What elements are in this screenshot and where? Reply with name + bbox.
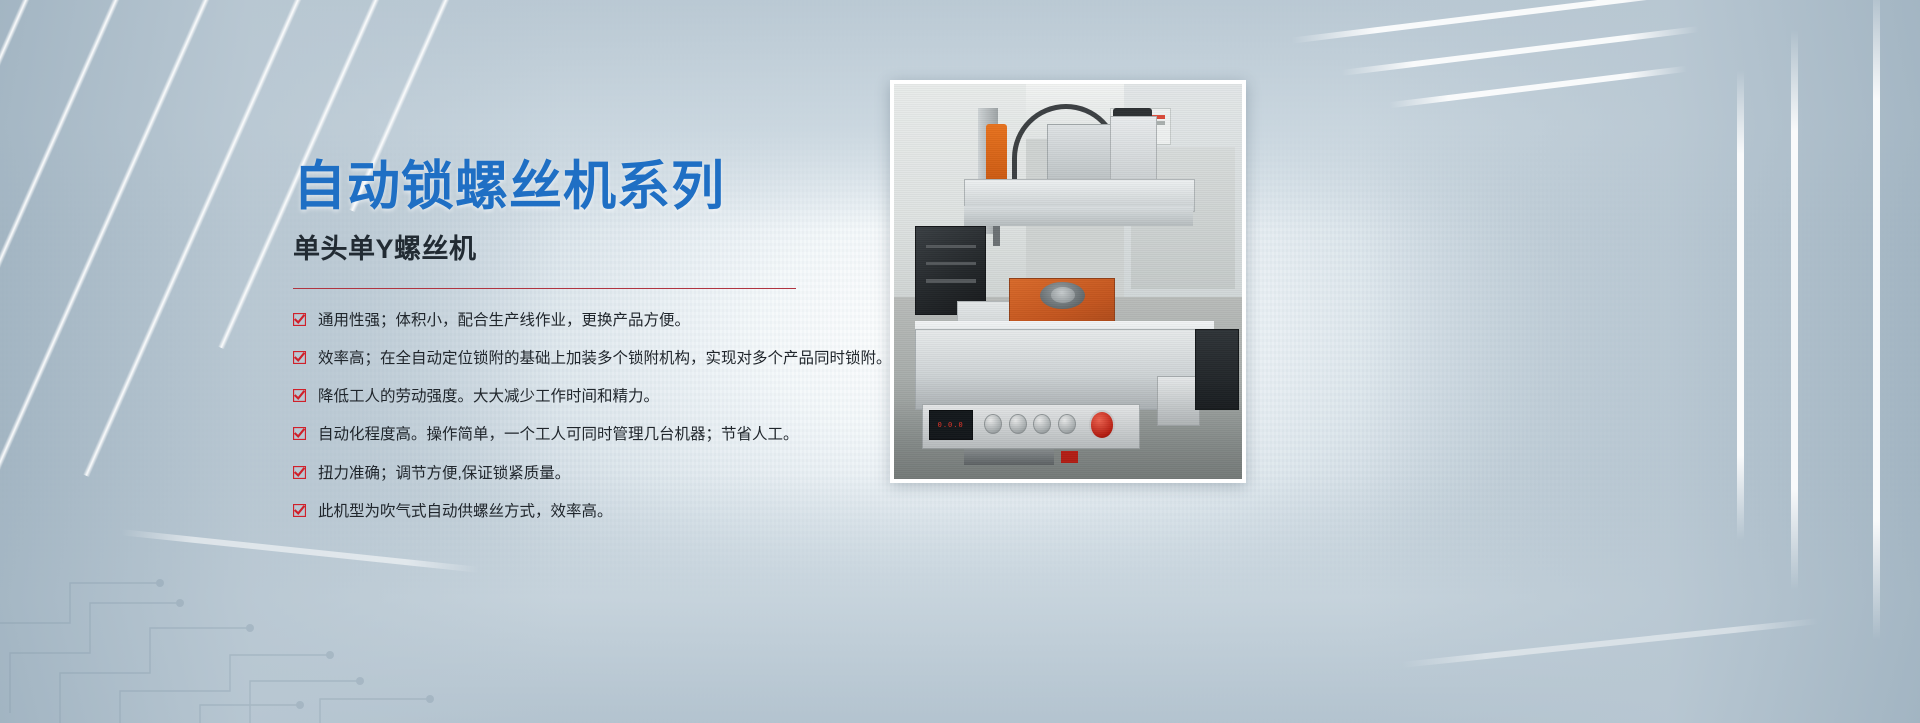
banner-content: 自动锁螺丝机系列 单头单Y螺丝机 通用性强；体积小，配合生产线作业，更换产品方便… bbox=[293, 160, 893, 540]
product-photo: 0.0.0 bbox=[894, 84, 1242, 479]
check-box-icon bbox=[293, 389, 306, 402]
check-box-icon bbox=[293, 313, 306, 326]
list-item: 自动化程度高。操作简单，一个工人可同时管理几台机器；节省人工。 bbox=[293, 425, 893, 445]
banner-stage: 自动锁螺丝机系列 单头单Y螺丝机 通用性强；体积小，配合生产线作业，更换产品方便… bbox=[0, 0, 1920, 723]
list-item: 效率高；在全自动定位锁附的基础上加装多个锁附机构，实现对多个产品同时锁附。 bbox=[293, 349, 893, 369]
list-item-label: 此机型为吹气式自动供螺丝方式，效率高。 bbox=[318, 502, 613, 522]
page-subtitle: 单头单Y螺丝机 bbox=[293, 227, 893, 266]
list-item-label: 通用性强；体积小，配合生产线作业，更换产品方便。 bbox=[318, 311, 690, 331]
list-item-label: 扭力准确；调节方便,保证锁紧质量。 bbox=[318, 464, 570, 484]
page-title: 自动锁螺丝机系列 bbox=[293, 160, 893, 213]
list-item-label: 效率高；在全自动定位锁附的基础上加装多个锁附机构，实现对多个产品同时锁附。 bbox=[318, 349, 892, 369]
check-box-icon bbox=[293, 427, 306, 440]
list-item-label: 降低工人的劳动强度。大大减少工作时间和精力。 bbox=[318, 387, 659, 407]
list-item: 降低工人的劳动强度。大大减少工作时间和精力。 bbox=[293, 387, 893, 407]
check-box-icon bbox=[293, 504, 306, 517]
list-item: 此机型为吹气式自动供螺丝方式，效率高。 bbox=[293, 502, 893, 522]
list-item-label: 自动化程度高。操作简单，一个工人可同时管理几台机器；节省人工。 bbox=[318, 425, 799, 445]
check-box-icon bbox=[293, 466, 306, 479]
list-item: 通用性强；体积小，配合生产线作业，更换产品方便。 bbox=[293, 311, 893, 331]
background-right-wall bbox=[1360, 0, 1920, 723]
check-box-icon bbox=[293, 351, 306, 364]
feature-list: 通用性强；体积小，配合生产线作业，更换产品方便。 效率高；在全自动定位锁附的基础… bbox=[293, 311, 893, 522]
list-item: 扭力准确；调节方便,保证锁紧质量。 bbox=[293, 464, 893, 484]
title-divider bbox=[293, 288, 796, 289]
product-photo-frame: 0.0.0 bbox=[890, 80, 1246, 483]
